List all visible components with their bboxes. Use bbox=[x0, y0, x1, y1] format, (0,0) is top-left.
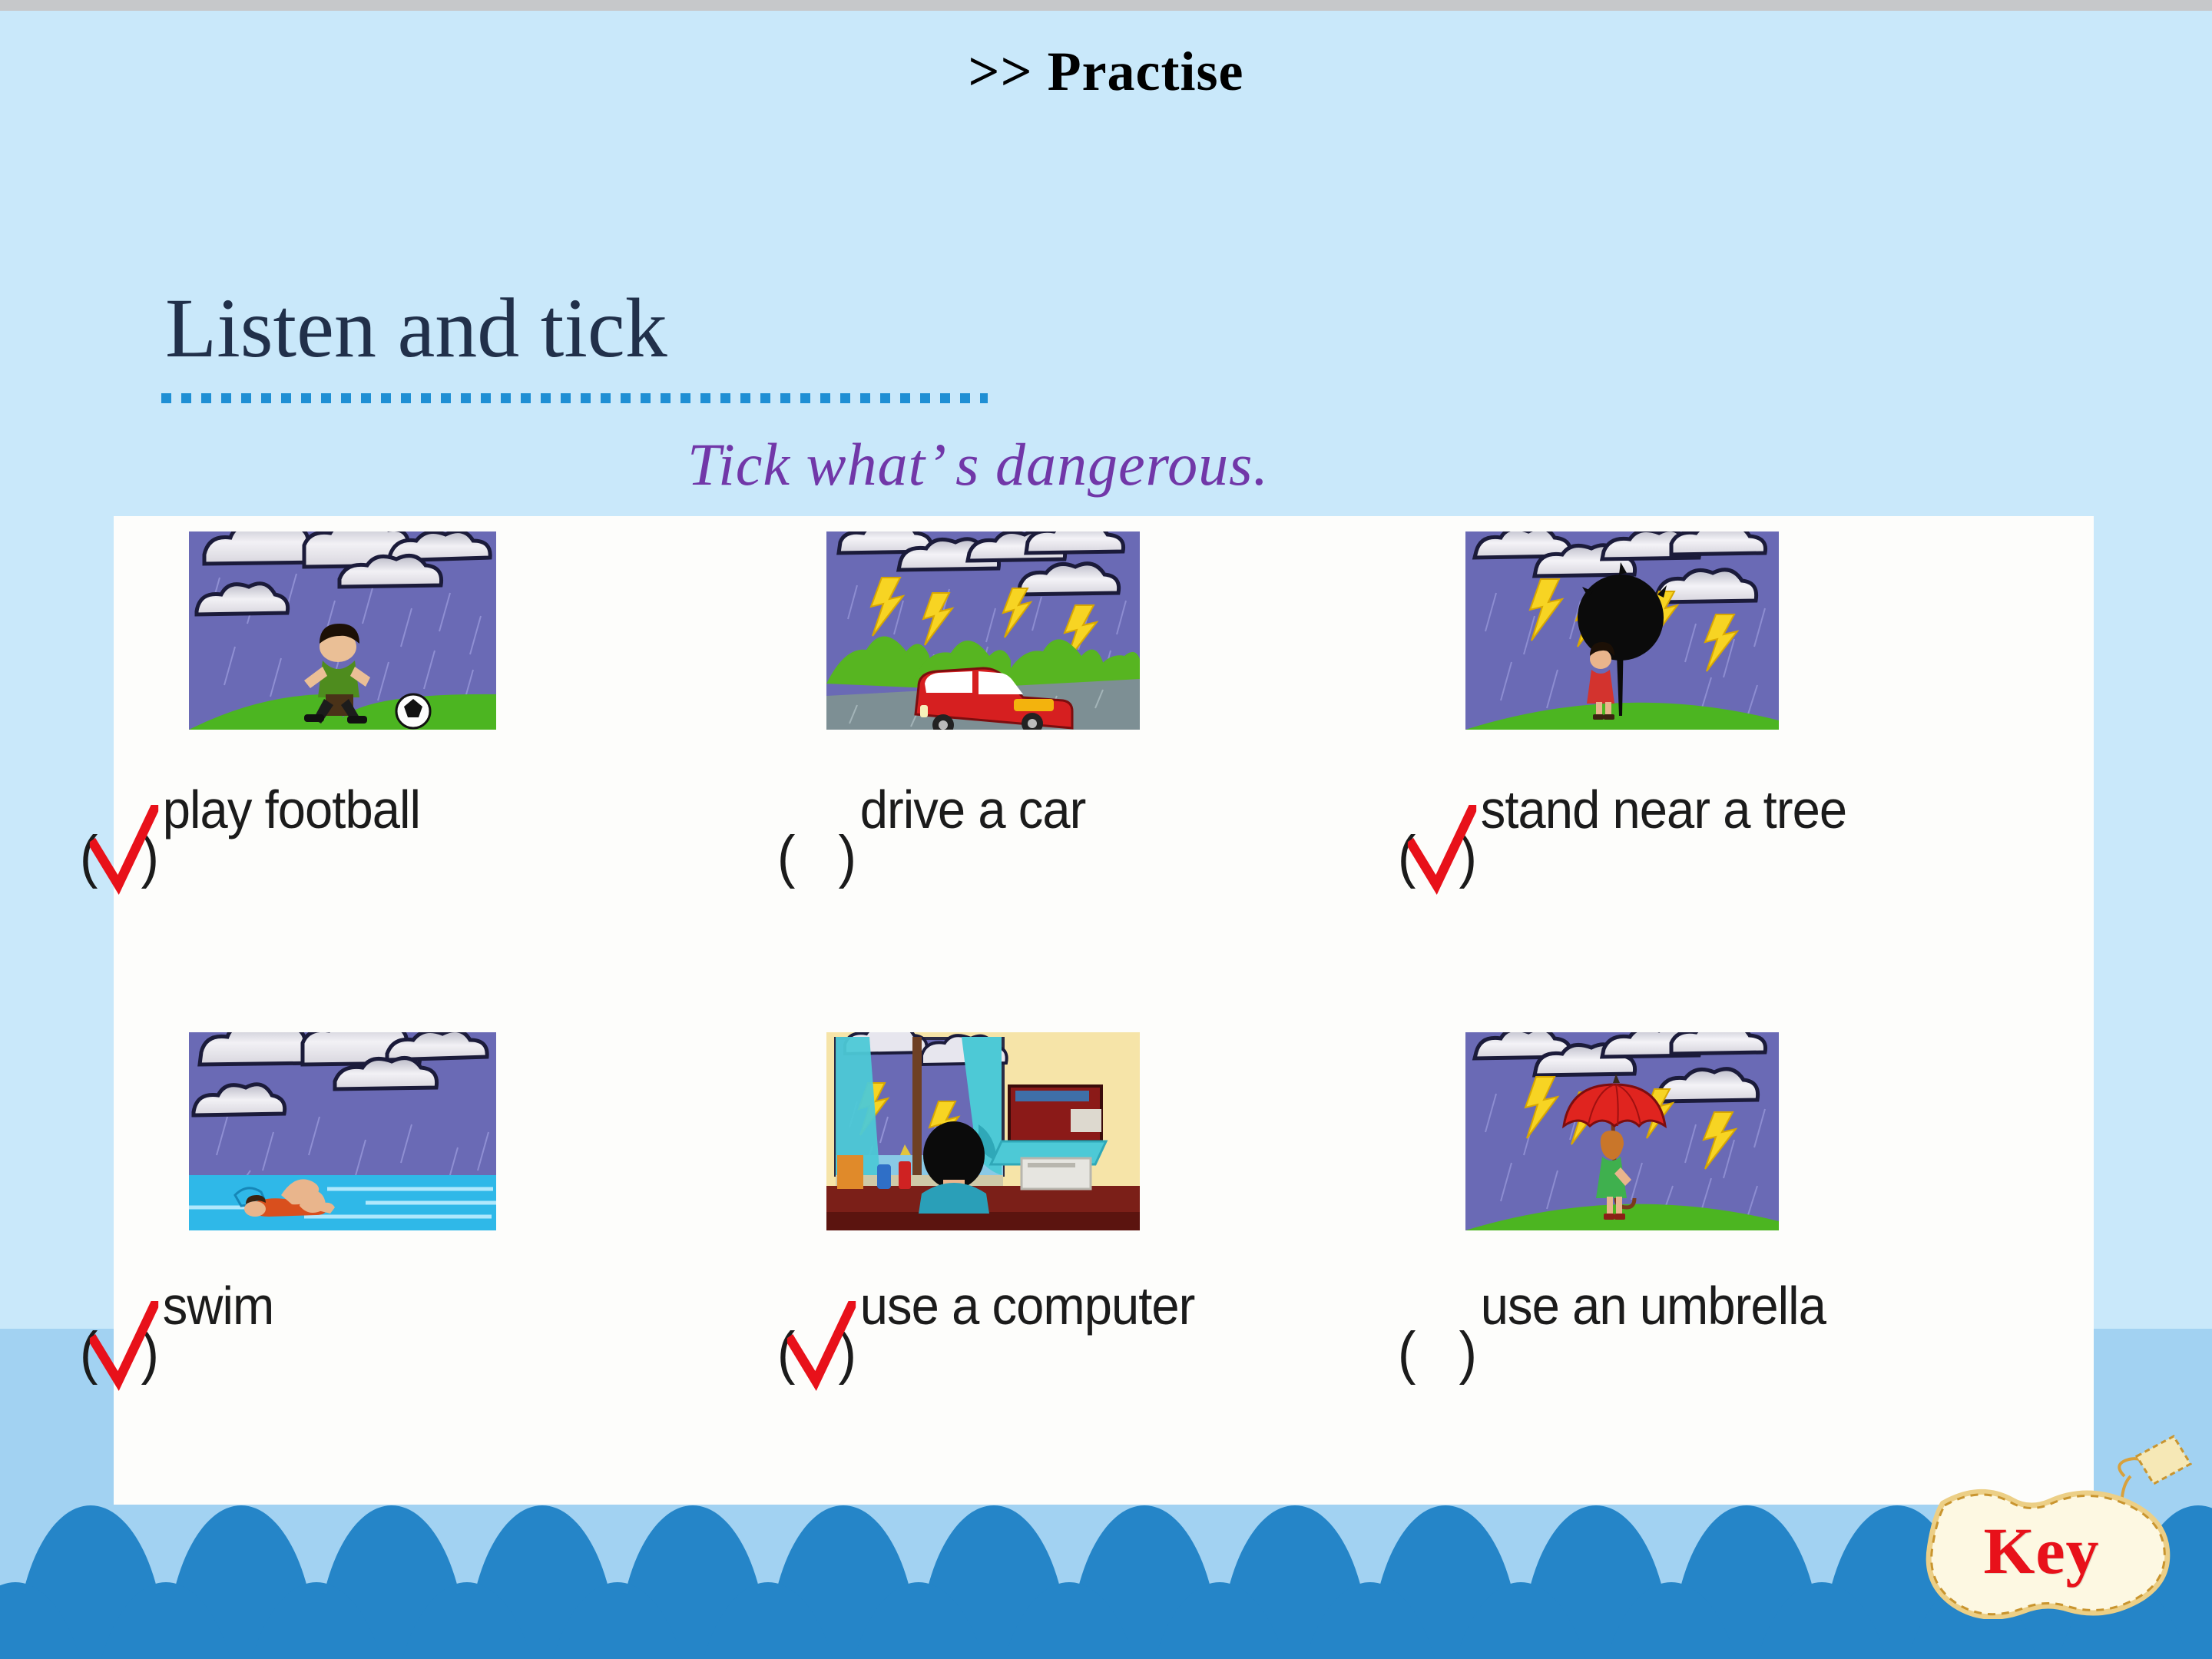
slide-canvas: >> Practise Listen and tick Tick what’s … bbox=[0, 0, 2212, 1659]
scallop-shape bbox=[542, 1582, 693, 1659]
right-paren: ) bbox=[1459, 828, 1477, 886]
subtitle-apostrophe: ’ bbox=[926, 431, 955, 498]
scallop-row-front bbox=[0, 1582, 2212, 1659]
item-label: drive a car bbox=[860, 780, 1086, 839]
left-paren: ( bbox=[777, 828, 795, 886]
section-heading: Listen and tick bbox=[165, 284, 667, 373]
left-paren: ( bbox=[80, 828, 98, 886]
right-paren: ) bbox=[141, 1324, 159, 1382]
page-title: >> Practise bbox=[0, 40, 2212, 104]
item-label: stand near a tree bbox=[1481, 780, 1846, 839]
scallop-shape bbox=[0, 1582, 91, 1659]
item-label: play football bbox=[163, 780, 420, 839]
scallop-shape bbox=[392, 1582, 542, 1659]
scallop-shape bbox=[994, 1582, 1144, 1659]
key-button-label: Key bbox=[1896, 1482, 2187, 1619]
subtitle-prefix: Tick what bbox=[687, 431, 926, 498]
item-label-row: ( ) drive a car bbox=[776, 779, 1085, 840]
illustration-drive-a-car bbox=[826, 531, 1140, 730]
top-edge-strip bbox=[0, 0, 2212, 11]
worksheet-item[interactable]: ( ) drive a car bbox=[790, 516, 1389, 1015]
item-label: use a computer bbox=[860, 1276, 1195, 1336]
instruction-subtitle: Tick what’s dangerous. bbox=[687, 430, 1269, 499]
scallop-shape bbox=[241, 1582, 392, 1659]
worksheet-row-top: ( ) play football bbox=[114, 516, 2094, 1015]
worksheet-item[interactable]: ( ) swim bbox=[114, 1015, 790, 1505]
item-label-row: ( ) use an umbrella bbox=[1396, 1275, 1826, 1336]
illustration-swim bbox=[189, 1032, 496, 1230]
left-paren: ( bbox=[80, 1324, 98, 1382]
illustration-use-an-umbrella bbox=[1465, 1032, 1779, 1230]
left-paren: ( bbox=[1398, 1324, 1416, 1382]
illustration-use-a-computer bbox=[826, 1032, 1140, 1230]
scallop-shape bbox=[693, 1582, 843, 1659]
left-paren: ( bbox=[1398, 828, 1416, 886]
scallop-shape bbox=[2198, 1582, 2212, 1659]
illustration-play-football bbox=[189, 531, 496, 730]
right-paren: ) bbox=[839, 828, 856, 886]
right-paren: ) bbox=[839, 1324, 856, 1382]
item-label: use an umbrella bbox=[1481, 1276, 1826, 1336]
worksheet-row-bottom: ( ) swim bbox=[114, 1015, 2094, 1505]
worksheet-item[interactable]: ( ) use an umbrella bbox=[1389, 1015, 2094, 1505]
item-label-row: ( ) stand near a tree bbox=[1396, 779, 1846, 840]
item-label-row: ( ) use a computer bbox=[776, 1275, 1194, 1336]
worksheet-panel: ( ) play football bbox=[114, 516, 2094, 1505]
subtitle-suffix: s dangerous. bbox=[955, 431, 1269, 498]
scallop-shape bbox=[1747, 1582, 1897, 1659]
item-label-row: ( ) play football bbox=[78, 779, 420, 840]
scallop-shape bbox=[1445, 1582, 1596, 1659]
worksheet-item[interactable]: ( ) play football bbox=[114, 516, 790, 1015]
item-label-row: ( ) swim bbox=[78, 1275, 273, 1336]
heading-dotted-underline bbox=[161, 393, 988, 403]
right-paren: ) bbox=[1459, 1324, 1477, 1382]
scallop-shape bbox=[843, 1582, 994, 1659]
right-paren: ) bbox=[141, 828, 159, 886]
worksheet-item[interactable]: ( ) stand near a tree bbox=[1389, 516, 2094, 1015]
left-paren: ( bbox=[777, 1324, 795, 1382]
item-label: swim bbox=[163, 1276, 274, 1336]
key-button[interactable]: Key bbox=[1896, 1442, 2187, 1619]
scallop-shape bbox=[1596, 1582, 1747, 1659]
scallop-shape bbox=[1295, 1582, 1445, 1659]
illustration-stand-near-a-tree bbox=[1465, 531, 1779, 730]
scallop-shape bbox=[91, 1582, 241, 1659]
scallop-shape bbox=[1144, 1582, 1295, 1659]
worksheet-item[interactable]: ( ) use a computer bbox=[790, 1015, 1389, 1505]
